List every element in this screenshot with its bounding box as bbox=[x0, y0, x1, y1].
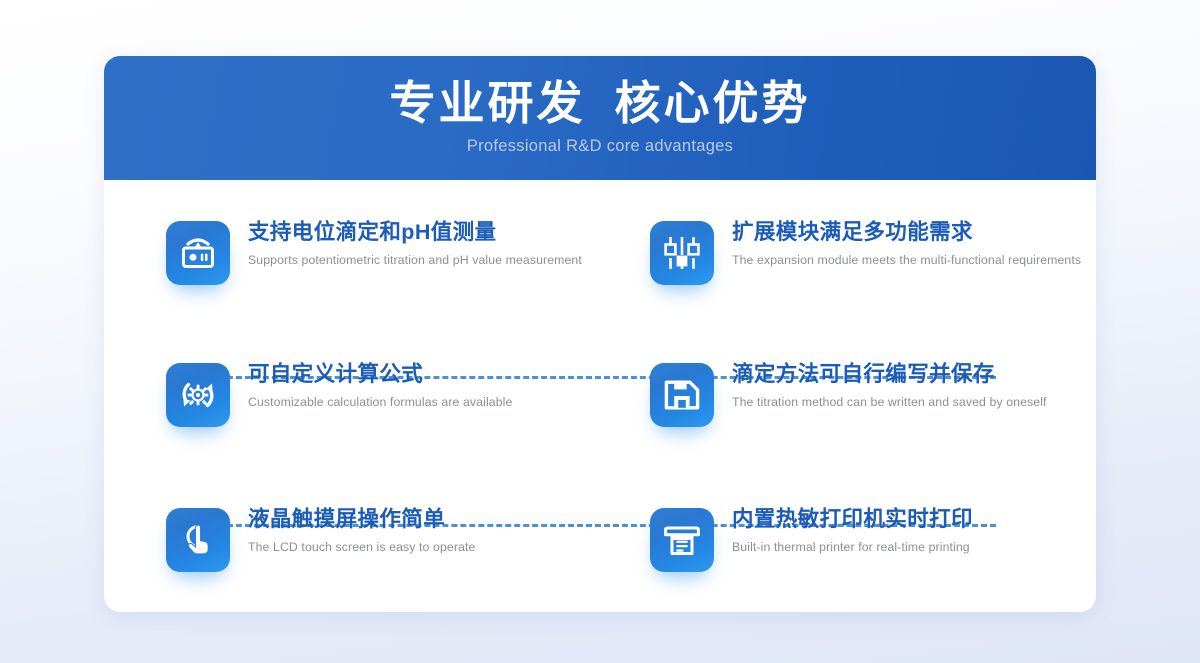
feature-title: 液晶触摸屏操作简单 bbox=[248, 506, 475, 533]
feature-subtitle: The expansion module meets the multi-fun… bbox=[732, 253, 1081, 267]
icon-container bbox=[650, 221, 714, 285]
feature-text: 可自定义计算公式 Customizable calculation formul… bbox=[230, 360, 512, 410]
page-title: 专业研发 核心优势 bbox=[104, 78, 1096, 131]
feature-item-expansion-module[interactable]: 扩展模块满足多功能需求 The expansion module meets t… bbox=[600, 218, 1096, 285]
feature-item-save-method[interactable]: 滴定方法可自行编写并保存 The titration method can be… bbox=[600, 360, 1096, 427]
feature-subtitle: Supports potentiometric titration and pH… bbox=[248, 253, 582, 267]
page-subtitle: Professional R&D core advantages bbox=[104, 137, 1096, 156]
measurement-device-icon bbox=[166, 221, 230, 285]
feature-text: 液晶触摸屏操作简单 The LCD touch screen is easy t… bbox=[230, 505, 475, 555]
icon-container bbox=[650, 363, 714, 427]
printer-icon bbox=[650, 508, 714, 572]
sliders-icon bbox=[650, 221, 714, 285]
feature-subtitle: Built-in thermal printer for real-time p… bbox=[732, 540, 973, 554]
feature-text: 支持电位滴定和pH值测量 Supports potentiometric tit… bbox=[230, 218, 582, 268]
feature-title: 滴定方法可自行编写并保存 bbox=[732, 361, 1047, 388]
touch-hand-icon bbox=[166, 508, 230, 572]
feature-item-touch-screen[interactable]: 液晶触摸屏操作简单 The LCD touch screen is easy t… bbox=[104, 505, 600, 572]
floppy-save-icon bbox=[650, 363, 714, 427]
feature-subtitle: The LCD touch screen is easy to operate bbox=[248, 540, 475, 554]
icon-container bbox=[166, 508, 230, 572]
feature-title: 内置热敏打印机实时打印 bbox=[732, 506, 973, 533]
feature-text: 滴定方法可自行编写并保存 The titration method can be… bbox=[714, 360, 1047, 410]
feature-title: 扩展模块满足多功能需求 bbox=[732, 219, 1081, 246]
feature-item-potentiometric-titration[interactable]: 支持电位滴定和pH值测量 Supports potentiometric tit… bbox=[104, 218, 600, 285]
feature-item-custom-formula[interactable]: 可自定义计算公式 Customizable calculation formul… bbox=[104, 360, 600, 427]
card-header-banner: 专业研发 核心优势 Professional R&D core advantag… bbox=[104, 56, 1096, 180]
feature-row: 支持电位滴定和pH值测量 Supports potentiometric tit… bbox=[104, 180, 1096, 322]
gear-refresh-icon bbox=[166, 363, 230, 427]
feature-subtitle: The titration method can be written and … bbox=[732, 395, 1047, 409]
icon-container bbox=[650, 508, 714, 572]
icon-container bbox=[166, 221, 230, 285]
advantages-card: 专业研发 核心优势 Professional R&D core advantag… bbox=[104, 56, 1096, 612]
feature-title: 支持电位滴定和pH值测量 bbox=[248, 219, 582, 246]
feature-item-thermal-printer[interactable]: 内置热敏打印机实时打印 Built-in thermal printer for… bbox=[600, 505, 1096, 572]
feature-subtitle: Customizable calculation formulas are av… bbox=[248, 395, 512, 409]
feature-row: 可自定义计算公式 Customizable calculation formul… bbox=[104, 322, 1096, 464]
feature-text: 内置热敏打印机实时打印 Built-in thermal printer for… bbox=[714, 505, 973, 555]
feature-row: 液晶触摸屏操作简单 The LCD touch screen is easy t… bbox=[104, 464, 1096, 612]
icon-container bbox=[166, 363, 230, 427]
feature-title: 可自定义计算公式 bbox=[248, 361, 512, 388]
feature-grid: 支持电位滴定和pH值测量 Supports potentiometric tit… bbox=[104, 180, 1096, 612]
feature-text: 扩展模块满足多功能需求 The expansion module meets t… bbox=[714, 218, 1081, 268]
